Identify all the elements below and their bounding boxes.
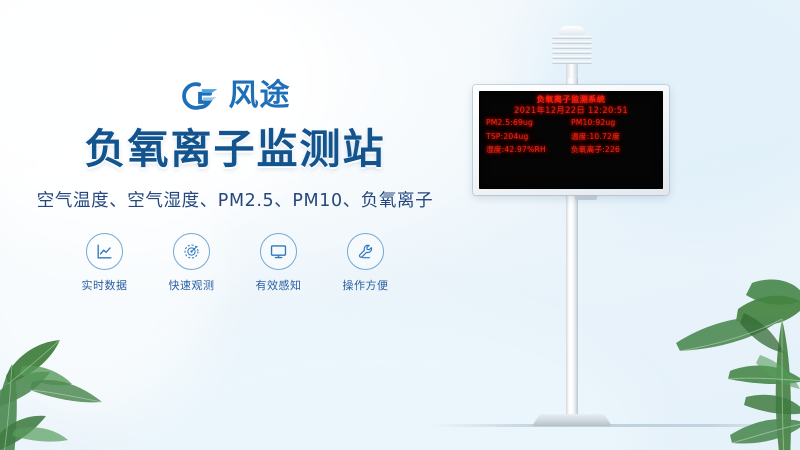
led-display-cabinet: 负氧离子监测系统 2021年12月22日 12:20:51 PM2.5:69ug… bbox=[473, 85, 669, 195]
led-reading-temperature: 温度:10.72度 bbox=[571, 133, 656, 141]
feature-label: 快速观测 bbox=[169, 277, 215, 293]
brand-logo: 风途 bbox=[0, 74, 470, 118]
radar-signal-icon bbox=[173, 233, 210, 270]
led-reading-pm25: PM2.5:69ug bbox=[486, 119, 571, 127]
hero-copy-block: 风途 负氧离子监测站 空气温度、空气湿度、PM2.5、PM10、负氧离子 实时数… bbox=[0, 74, 470, 293]
feature-label: 操作方便 bbox=[343, 277, 389, 293]
led-reading-negative-oxygen-ion: 负氧离子:226 bbox=[571, 146, 656, 154]
led-reading-humidity: 湿度:42.97%RH bbox=[486, 146, 571, 154]
feature-item-effective-sensing[interactable]: 有效感知 bbox=[248, 233, 310, 293]
led-display-header: 负氧离子监测系统 bbox=[479, 95, 663, 103]
led-datetime: 2021年12月22日 12:20:51 bbox=[479, 106, 663, 114]
page-title: 负氧离子监测站 bbox=[0, 128, 470, 171]
feature-label: 有效感知 bbox=[256, 277, 302, 293]
brand-name: 风途 bbox=[229, 81, 291, 111]
monitoring-station-device: 负氧离子监测系统 2021年12月22日 12:20:51 PM2.5:69ug… bbox=[455, 12, 705, 437]
wrench-icon bbox=[347, 233, 384, 270]
feature-item-fast-observation[interactable]: 快速观测 bbox=[161, 233, 223, 293]
feature-list: 实时数据 快速观测 bbox=[0, 233, 470, 293]
feature-item-easy-operation[interactable]: 操作方便 bbox=[335, 233, 397, 293]
monitor-screen-icon bbox=[260, 233, 297, 270]
led-screen: 负氧离子监测系统 2021年12月22日 12:20:51 PM2.5:69ug… bbox=[479, 91, 663, 189]
poster-canvas: 风途 负氧离子监测站 空气温度、空气湿度、PM2.5、PM10、负氧离子 实时数… bbox=[0, 0, 800, 450]
feature-label: 实时数据 bbox=[82, 277, 128, 293]
green-leaf-plant-icon bbox=[0, 306, 138, 450]
gf-leaf-logo-icon bbox=[180, 80, 220, 112]
line-chart-icon bbox=[86, 233, 123, 270]
led-readings-grid: PM2.5:69ug PM10:92ug TSP:204ug 温度:10.72度… bbox=[486, 119, 656, 154]
led-reading-tsp: TSP:204ug bbox=[486, 133, 571, 141]
led-reading-pm10: PM10:92ug bbox=[571, 119, 656, 127]
page-subtitle: 空气温度、空气湿度、PM2.5、PM10、负氧离子 bbox=[0, 187, 470, 212]
feature-item-realtime-data[interactable]: 实时数据 bbox=[74, 233, 136, 293]
